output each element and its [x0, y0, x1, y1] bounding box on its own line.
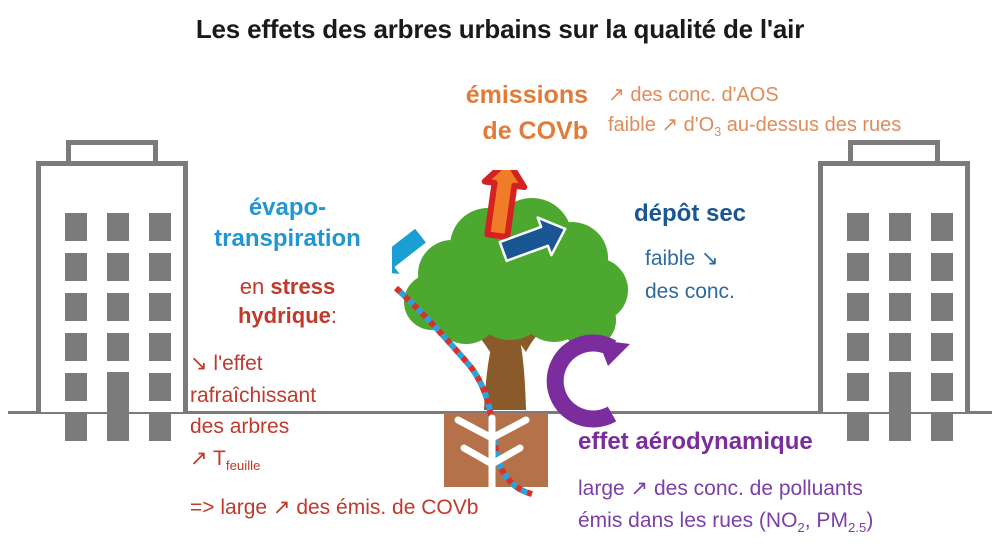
building-window [65, 373, 87, 401]
building-left [36, 140, 188, 412]
building-window [931, 213, 953, 241]
depot-body-line-2: des conc. [645, 276, 735, 309]
dry-deposition-heading: dépôt sec [634, 200, 746, 228]
emissions-o3-pre: faible ↗ d'O [608, 114, 714, 136]
building-body [36, 161, 188, 412]
evapotranspiration-heading: évapo- transpiration [185, 192, 390, 254]
building-window [107, 293, 129, 321]
aero-body-line-2: émis dans les rues (NO2, PM2.5) [578, 505, 873, 538]
aerodynamic-heading: effet aérodynamique [578, 428, 813, 456]
evapo-body-line-2: rafraîchissant [190, 380, 316, 412]
building-window [931, 253, 953, 281]
aero-no2-pre: émis dans les rues (NO [578, 509, 797, 532]
evapotranspiration-conclusion: => large ↗ des émis. de COVb [190, 495, 478, 520]
dry-deposition-body: faible ↘ des conc. [645, 243, 735, 309]
building-window [931, 293, 953, 321]
circular-arrow-icon [555, 340, 630, 419]
evapo-sub-bold-2: hydrique [238, 303, 331, 328]
building-window [889, 413, 911, 441]
building-window [889, 293, 911, 321]
aero-pm-sub: 2.5 [848, 520, 866, 535]
infographic-canvas: Les effets des arbres urbains sur la qua… [0, 0, 1000, 550]
evapo-body-line-4: ↗ Tfeuille [190, 443, 316, 476]
emissions-body: ↗ des conc. d'AOS faible ↗ d'O3 au-dessu… [608, 80, 901, 142]
building-window [847, 373, 869, 401]
evapo-sub-line-2: hydrique: [185, 301, 390, 330]
evapo-tfeuille-pre: ↗ T [190, 447, 226, 470]
building-window [931, 333, 953, 361]
building-window [847, 293, 869, 321]
evapo-sub-prefix: en [240, 274, 271, 299]
building-window [149, 213, 171, 241]
tree-roots-icon [458, 418, 526, 492]
evapo-body-line-3: des arbres [190, 411, 316, 443]
building-window [107, 333, 129, 361]
aero-pm-mid: , PM [805, 509, 848, 532]
building-door [889, 372, 911, 412]
building-window [847, 253, 869, 281]
building-window [65, 413, 87, 441]
emissions-body-line-2: faible ↗ d'O3 au-dessus des rues [608, 110, 901, 142]
aero-no2-sub: 2 [797, 520, 804, 535]
emissions-o3-post: au-dessus des rues [721, 114, 901, 136]
emissions-heading-line-2: de COVb [443, 114, 588, 150]
building-door [107, 372, 129, 412]
aero-body-line-1: large ↗ des conc. de polluants [578, 473, 873, 505]
evapo-sub-bold: stress [270, 274, 335, 299]
page-title: Les effets des arbres urbains sur la qua… [0, 14, 1000, 45]
building-window [107, 253, 129, 281]
building-window [931, 373, 953, 401]
building-window [65, 253, 87, 281]
building-window [107, 413, 129, 441]
building-window [889, 253, 911, 281]
building-window [847, 213, 869, 241]
aero-no2-post: ) [866, 509, 873, 532]
evapotranspiration-body: ↘ l'effet rafraîchissant des arbres ↗ Tf… [190, 348, 316, 476]
aerodynamic-body: large ↗ des conc. de polluants émis dans… [578, 473, 873, 538]
evapotranspiration-subheading: en stress hydrique: [185, 272, 390, 330]
building-window [65, 213, 87, 241]
evapo-tfeuille-sub: feuille [226, 458, 261, 473]
building-window [889, 213, 911, 241]
emissions-body-line-1: ↗ des conc. d'AOS [608, 80, 901, 110]
emissions-heading: émissions de COVb [443, 78, 588, 149]
evapo-body-line-1: ↘ l'effet [190, 348, 316, 380]
building-window [107, 213, 129, 241]
emissions-heading-line-1: émissions [443, 78, 588, 114]
building-window [149, 373, 171, 401]
evapo-heading-line-1: évapo- [185, 192, 390, 223]
building-window [847, 413, 869, 441]
building-window [149, 293, 171, 321]
building-window [149, 253, 171, 281]
building-window [65, 293, 87, 321]
evapo-sub-line-1: en stress [185, 272, 390, 301]
building-window [847, 333, 869, 361]
building-window [931, 413, 953, 441]
building-body [818, 161, 970, 412]
building-window [149, 413, 171, 441]
building-right [818, 140, 970, 412]
building-window [65, 333, 87, 361]
evapo-heading-line-2: transpiration [185, 223, 390, 254]
depot-body-line-1: faible ↘ [645, 243, 735, 276]
building-window [889, 333, 911, 361]
building-window [149, 333, 171, 361]
evapo-sub-suffix: : [331, 303, 337, 328]
